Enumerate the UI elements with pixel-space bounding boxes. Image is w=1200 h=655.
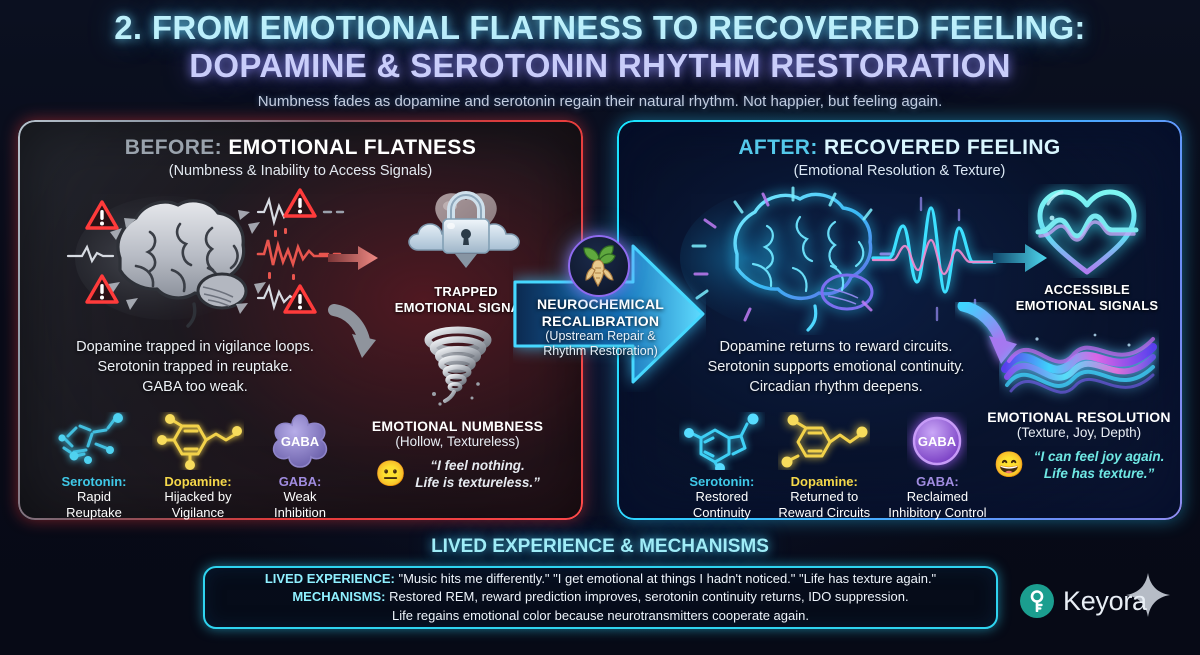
accessible-signals-block: ACCESSIBLE EMOTIONAL SIGNALS — [1007, 184, 1167, 315]
before-panel-title-lead: BEFORE: — [125, 136, 222, 159]
mechanisms-key: MECHANISMS: — [292, 589, 385, 604]
mechanisms-value: Restored REM, reward prediction improves… — [386, 589, 909, 604]
before-panel-header: BEFORE: EMOTIONAL FLATNESS (Numbness & I… — [20, 136, 581, 179]
neutral-face-emoji: 😐 — [375, 462, 406, 487]
chip-serotonin-after-desc2: Continuity — [675, 505, 769, 521]
tornado-icon — [410, 322, 506, 414]
mechanisms-line: MECHANISMS: Restored REM, reward predict… — [292, 588, 908, 606]
after-quote-line1: “I can feel joy again. — [1034, 449, 1165, 464]
ginseng-herb-icon — [568, 235, 630, 297]
serotonin-molecule-icon — [675, 410, 769, 472]
grinning-face-emoji: 😄 — [994, 453, 1025, 478]
chip-dopamine-after-name: Dopamine: — [769, 474, 880, 489]
chip-gaba-after-desc1: Reclaimed — [880, 489, 995, 505]
keyora-logo[interactable]: Keyora — [1020, 584, 1147, 618]
after-panel-title-lead: AFTER: — [738, 136, 817, 159]
flowing-wave-icon — [999, 327, 1159, 407]
after-neurotransmitter-chips: Serotonin: Restored Continuity — [675, 410, 995, 521]
chip-gaba-desc1: Weak — [254, 489, 346, 505]
resolution-sub: (Texture, Joy, Depth) — [975, 425, 1183, 440]
chip-dopamine-name: Dopamine: — [146, 474, 250, 489]
after-panel-subtitle: (Emotional Resolution & Texture) — [619, 163, 1180, 179]
before-panel-title-rest: EMOTIONAL FLATNESS — [222, 136, 476, 159]
page-subtitle: Numbness fades as dopamine and serotonin… — [0, 93, 1200, 110]
serotonin-molecule-icon — [46, 410, 142, 472]
lived-experience-key: LIVED EXPERIENCE: — [265, 571, 395, 586]
before-panel: BEFORE: EMOTIONAL FLATNESS (Numbness & I… — [18, 120, 583, 520]
after-quote-line2: Life has texture.” — [1044, 466, 1154, 481]
before-quote-line2: Life is textureless.” — [415, 475, 540, 490]
logo-text: Keyora — [1063, 586, 1147, 617]
chip-dopamine-desc1: Hijacked by — [146, 489, 250, 505]
chip-serotonin-desc2: Reuptake — [46, 505, 142, 521]
chip-dopamine-after-desc2: Reward Circuits — [769, 505, 880, 521]
chip-serotonin-after-name: Serotonin: — [675, 474, 769, 489]
distressed-brain-icon — [62, 188, 362, 328]
key-icon — [1020, 584, 1054, 618]
after-panel-title: AFTER: RECOVERED FEELING — [619, 136, 1180, 160]
chip-serotonin: Serotonin: Rapid Reuptake — [46, 410, 142, 521]
after-quote: 😄 “I can feel joy again. Life has textur… — [975, 448, 1183, 483]
dopamine-molecule-icon — [769, 410, 880, 472]
chip-serotonin-after: Serotonin: Restored Continuity — [675, 410, 769, 521]
lived-experience-box: LIVED EXPERIENCE: "Music hits me differe… — [203, 566, 998, 629]
before-quote: 😐 “I feel nothing. Life is textureless.” — [340, 457, 575, 492]
numbness-sub: (Hollow, Textureless) — [340, 434, 575, 449]
resolution-title: EMOTIONAL RESOLUTION — [975, 409, 1183, 425]
locked-cloud-icon — [406, 184, 526, 280]
after-body-text: Dopamine returns to reward circuits. Ser… — [671, 337, 1001, 397]
before-quote-line1: “I feel nothing. — [430, 458, 525, 473]
chip-dopamine: Dopamine: Hijacked by Vigilance — [146, 410, 250, 521]
svg-text:GABA: GABA — [281, 434, 320, 449]
infographic-canvas: 2. FROM EMOTIONAL FLATNESS TO RECOVERED … — [0, 0, 1200, 655]
emotional-resolution-block: EMOTIONAL RESOLUTION (Texture, Joy, Dept… — [975, 327, 1183, 483]
after-panel-title-rest: RECOVERED FEELING — [818, 136, 1061, 159]
dopamine-molecule-icon — [146, 410, 250, 472]
chip-dopamine-after-desc1: Returned to — [769, 489, 880, 505]
numbness-title: EMOTIONAL NUMBNESS — [340, 418, 575, 434]
chip-gaba: GABA GABA: Weak Inhibition — [254, 410, 346, 521]
chip-dopamine-after: Dopamine: Returned to Reward Circuits — [769, 410, 880, 521]
chip-gaba-desc2: Inhibition — [254, 505, 346, 521]
page-title-line2: DOPAMINE & SEROTONIN RHYTHM RESTORATION — [0, 47, 1200, 86]
chip-serotonin-after-desc1: Restored — [675, 489, 769, 505]
before-neurotransmitter-chips: Serotonin: Rapid Reuptake — [46, 410, 346, 521]
neon-heart-pulse-icon — [1028, 184, 1146, 278]
header: 2. FROM EMOTIONAL FLATNESS TO RECOVERED … — [0, 10, 1200, 110]
lived-experience-line: LIVED EXPERIENCE: "Music hits me differe… — [265, 570, 936, 588]
lived-experience-value: "Music hits me differently." "I get emot… — [395, 571, 936, 586]
chip-dopamine-desc2: Vigilance — [146, 505, 250, 521]
mechanisms-line2: Life regains emotional color because neu… — [392, 607, 809, 625]
before-panel-title: BEFORE: EMOTIONAL FLATNESS — [20, 136, 581, 160]
svg-text:GABA: GABA — [918, 434, 957, 449]
chip-gaba-name: GABA: — [254, 474, 346, 489]
before-panel-subtitle: (Numbness & Inability to Access Signals) — [20, 163, 581, 179]
after-panel-header: AFTER: RECOVERED FEELING (Emotional Reso… — [619, 136, 1180, 179]
page-title-line1: 2. FROM EMOTIONAL FLATNESS TO RECOVERED … — [0, 10, 1200, 47]
chip-gaba-after-desc2: Inhibitory Control — [880, 505, 995, 521]
bottom-section-title: LIVED EXPERIENCE & MECHANISMS — [0, 536, 1200, 558]
chip-serotonin-desc1: Rapid — [46, 489, 142, 505]
before-body-text: Dopamine trapped in vigilance loops. Ser… — [40, 337, 350, 397]
gaba-badge-icon: GABA — [254, 410, 346, 472]
chip-serotonin-name: Serotonin: — [46, 474, 142, 489]
